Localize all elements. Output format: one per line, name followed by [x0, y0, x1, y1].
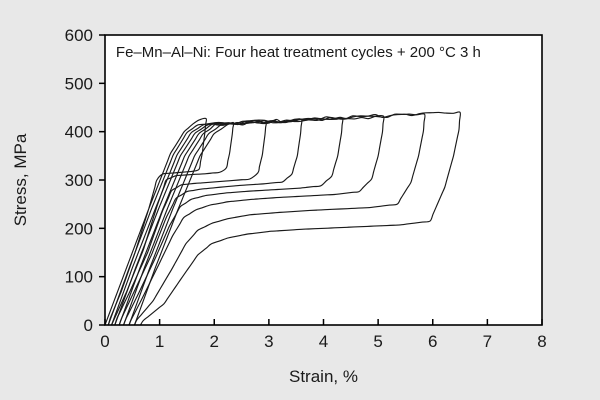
- y-tick-label: 100: [65, 268, 93, 287]
- y-tick-label: 200: [65, 219, 93, 238]
- y-tick-label: 0: [84, 316, 93, 335]
- x-tick-label: 6: [428, 332, 437, 351]
- chart-title: Fe–Mn–Al–Ni: Four heat treatment cycles …: [116, 44, 481, 61]
- y-tick-label: 300: [65, 171, 93, 190]
- x-tick-label: 4: [319, 332, 328, 351]
- x-tick-label: 8: [537, 332, 546, 351]
- chart-figure: 012345678 0100200300400500600 Fe–Mn–Al–N…: [0, 0, 600, 400]
- y-tick-label: 400: [65, 123, 93, 142]
- y-tick-label: 600: [65, 26, 93, 45]
- x-tick-label: 3: [264, 332, 273, 351]
- stress-strain-chart: 012345678 0100200300400500600 Fe–Mn–Al–N…: [0, 0, 600, 400]
- x-tick-label: 0: [100, 332, 109, 351]
- x-axis-title: Strain, %: [289, 367, 358, 386]
- x-tick-label: 2: [210, 332, 219, 351]
- x-tick-label: 7: [483, 332, 492, 351]
- y-tick-label: 500: [65, 74, 93, 93]
- x-tick-label: 5: [373, 332, 382, 351]
- y-axis-title: Stress, MPa: [11, 133, 30, 226]
- x-tick-label: 1: [155, 332, 164, 351]
